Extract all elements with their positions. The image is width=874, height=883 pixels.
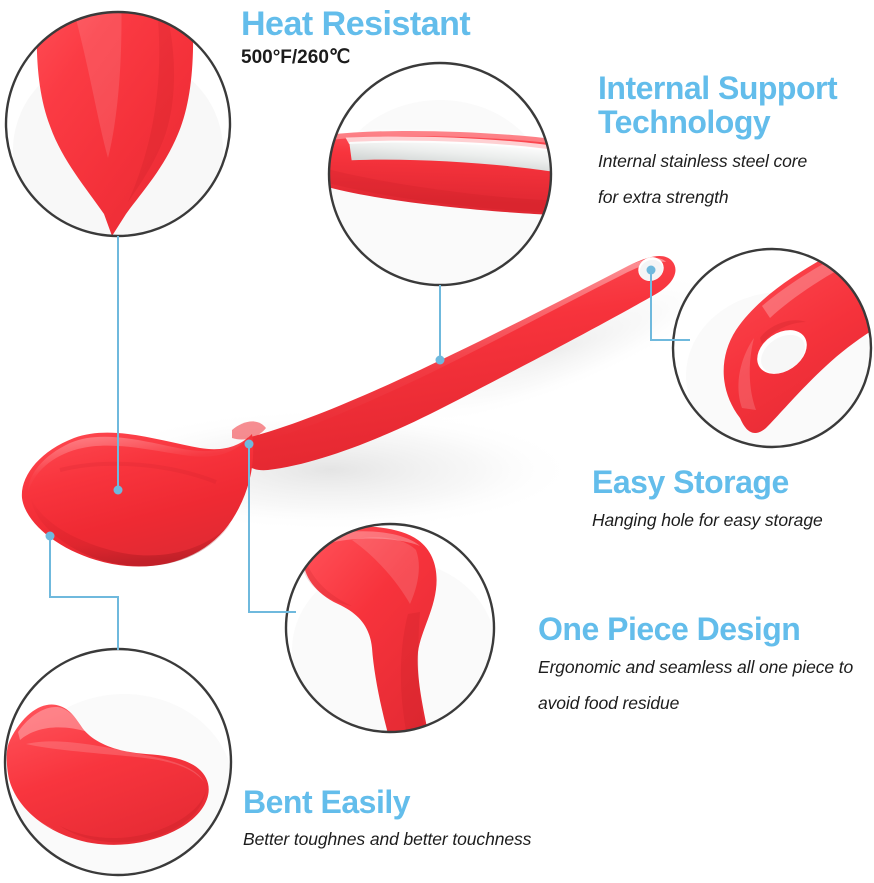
easy-storage-subtitle-line1: Hanging hole for easy storage [592, 505, 872, 536]
internal-support-subtitle-line1: Internal stainless steel core [598, 146, 874, 177]
one-piece-subtitle-line1: Ergonomic and seamless all one piece to [538, 652, 874, 683]
one-piece-title: One Piece Design [538, 613, 874, 647]
internal-support-title: Internal Support Technology [598, 72, 874, 140]
callout-heat-resistant [6, 0, 230, 248]
heat-resistant-subtitle: 500°F/260℃ [241, 46, 470, 69]
heat-resistant-title: Heat Resistant [241, 6, 470, 42]
easy-storage-title: Easy Storage [592, 466, 872, 500]
feature-easy-storage: Easy Storage Hanging hole for easy stora… [592, 466, 872, 536]
callout-easy-storage [673, 224, 874, 460]
feature-heat-resistant: Heat Resistant 500°F/260℃ [241, 6, 470, 69]
bent-easily-title: Bent Easily [243, 786, 673, 820]
one-piece-subtitle-line2: avoid food residue [538, 688, 874, 719]
callout-bent-easily [5, 649, 234, 883]
callout-internal-support [308, 63, 587, 292]
callout-one-piece-design [286, 524, 496, 748]
feature-bent-easily: Bent Easily Better toughnes and better t… [243, 786, 673, 855]
bent-easily-subtitle-line1: Better toughnes and better touchness [243, 824, 673, 855]
internal-support-subtitle-line2: for extra strength [598, 182, 874, 213]
product-feature-infographic: Heat Resistant 500°F/260℃ Internal Suppo… [0, 0, 874, 883]
feature-internal-support: Internal Support Technology Internal sta… [598, 72, 874, 213]
feature-one-piece-design: One Piece Design Ergonomic and seamless … [538, 613, 874, 718]
